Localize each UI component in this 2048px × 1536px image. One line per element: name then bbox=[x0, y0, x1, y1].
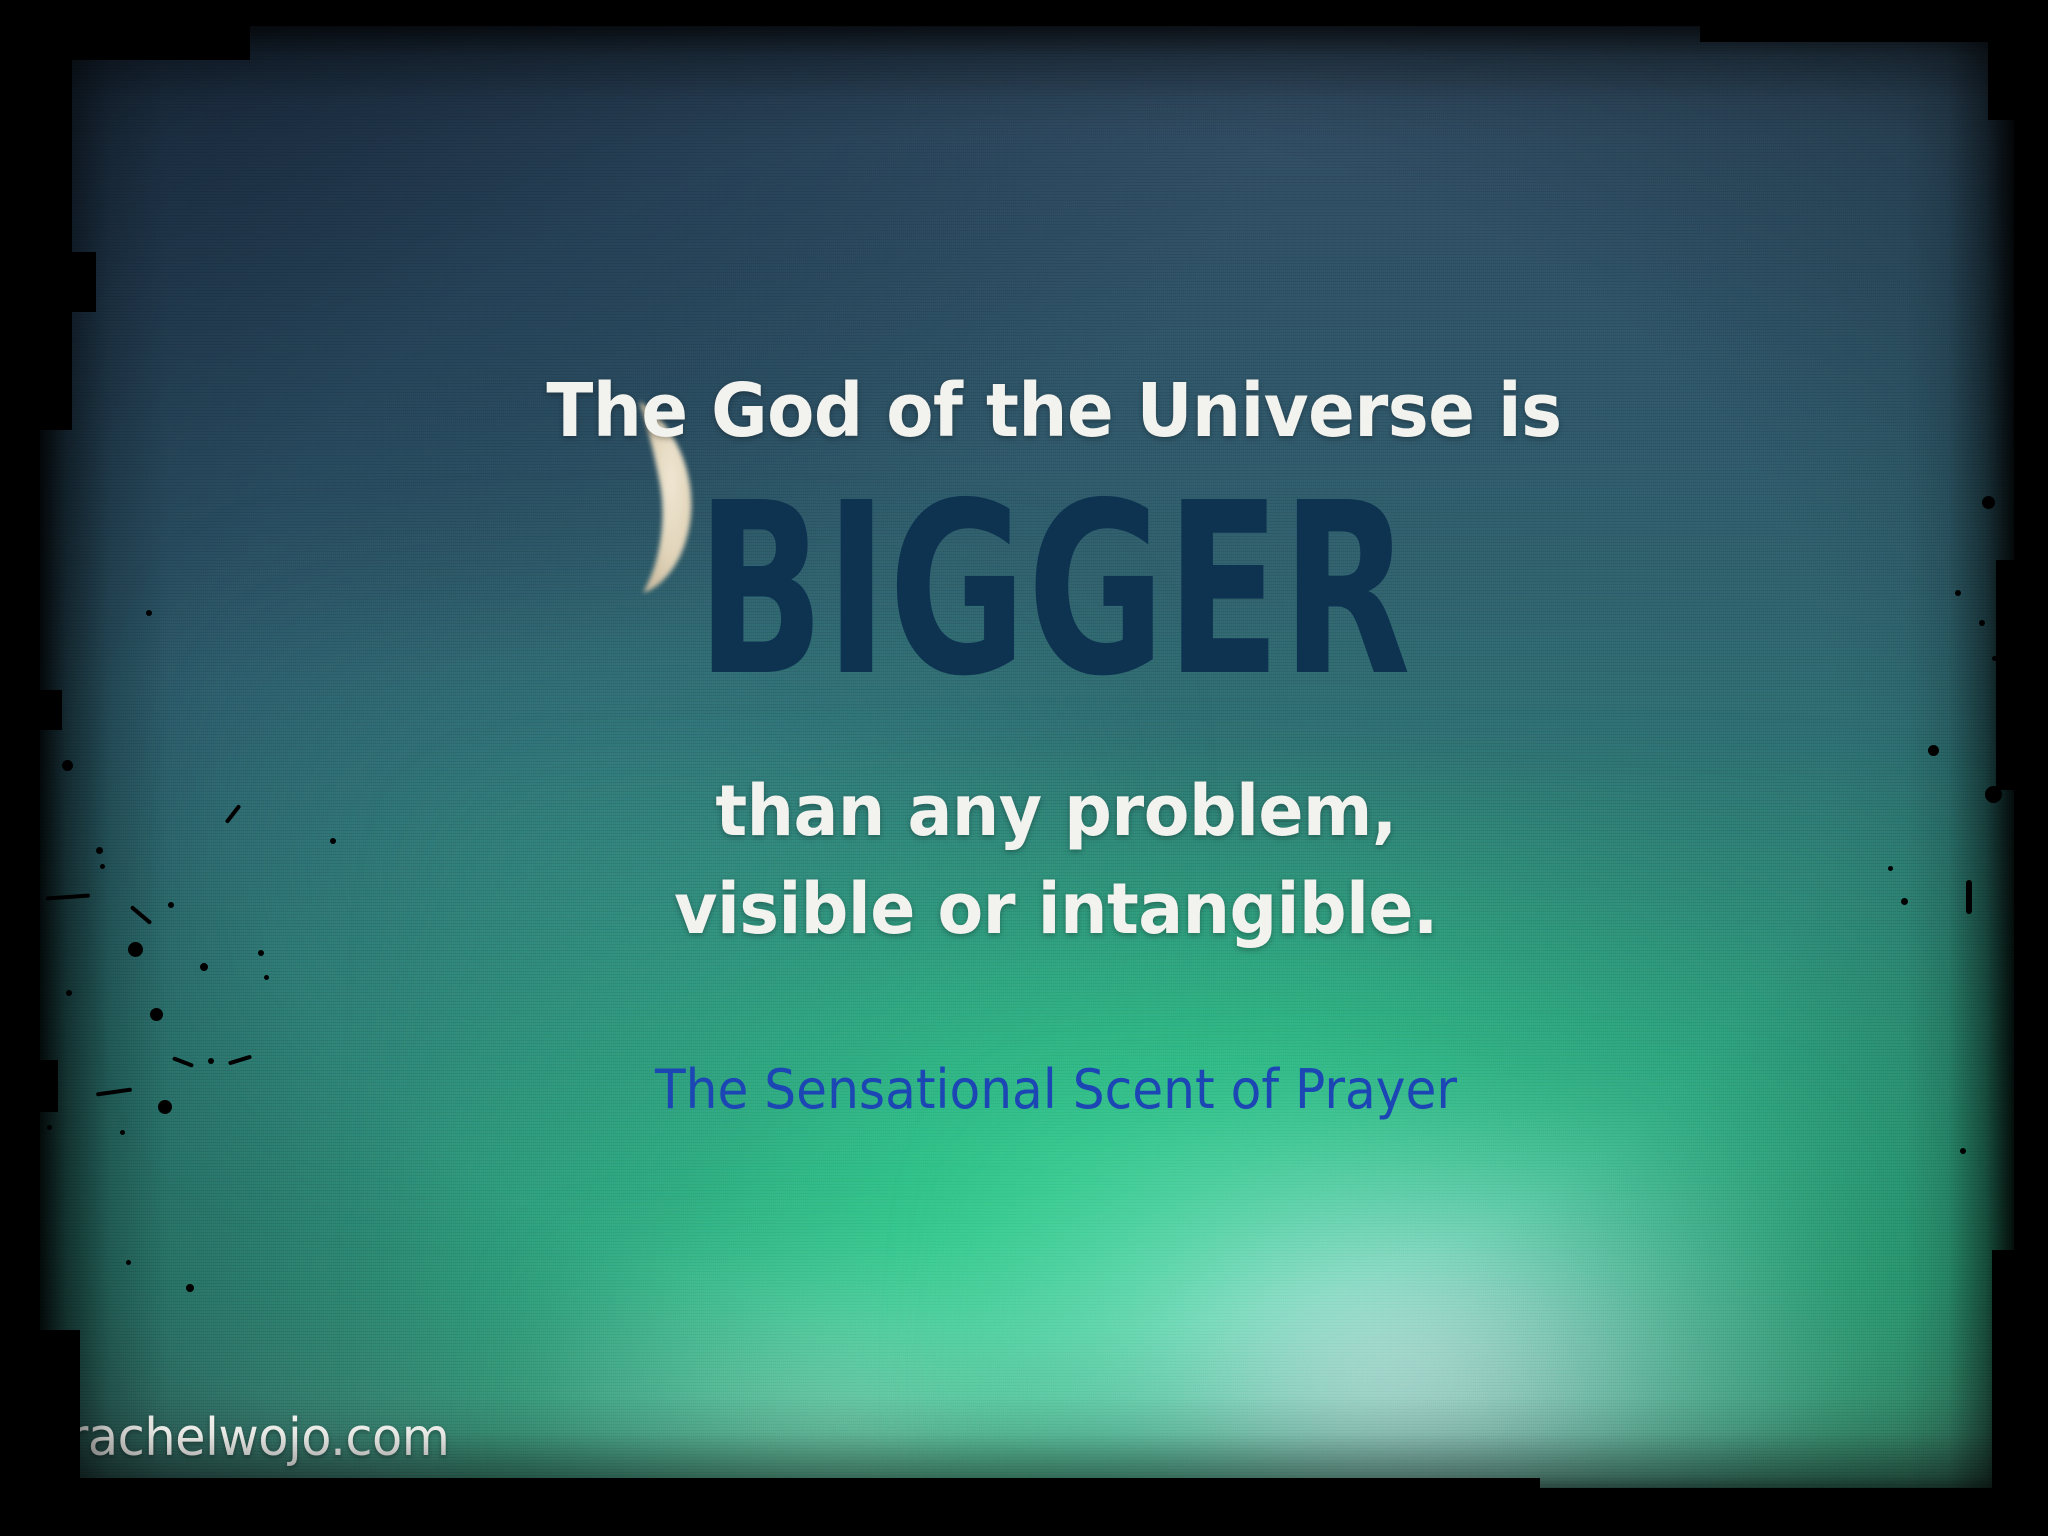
frame-rag bbox=[0, 0, 72, 430]
frame-rag bbox=[0, 690, 62, 730]
frame-rag bbox=[40, 1478, 1540, 1506]
film-grain bbox=[38, 22, 2016, 1502]
frame-rag bbox=[1996, 560, 2048, 790]
moon bbox=[595, 395, 715, 595]
frame-rag bbox=[0, 252, 96, 312]
quote-graphic: The God of the Universe is BIGGER than a… bbox=[0, 0, 2048, 1536]
waxing-crescent-moon-icon bbox=[595, 395, 715, 595]
background-photo bbox=[38, 22, 2016, 1502]
frame-rag bbox=[1988, 0, 2048, 120]
frame-rag bbox=[0, 1060, 58, 1112]
